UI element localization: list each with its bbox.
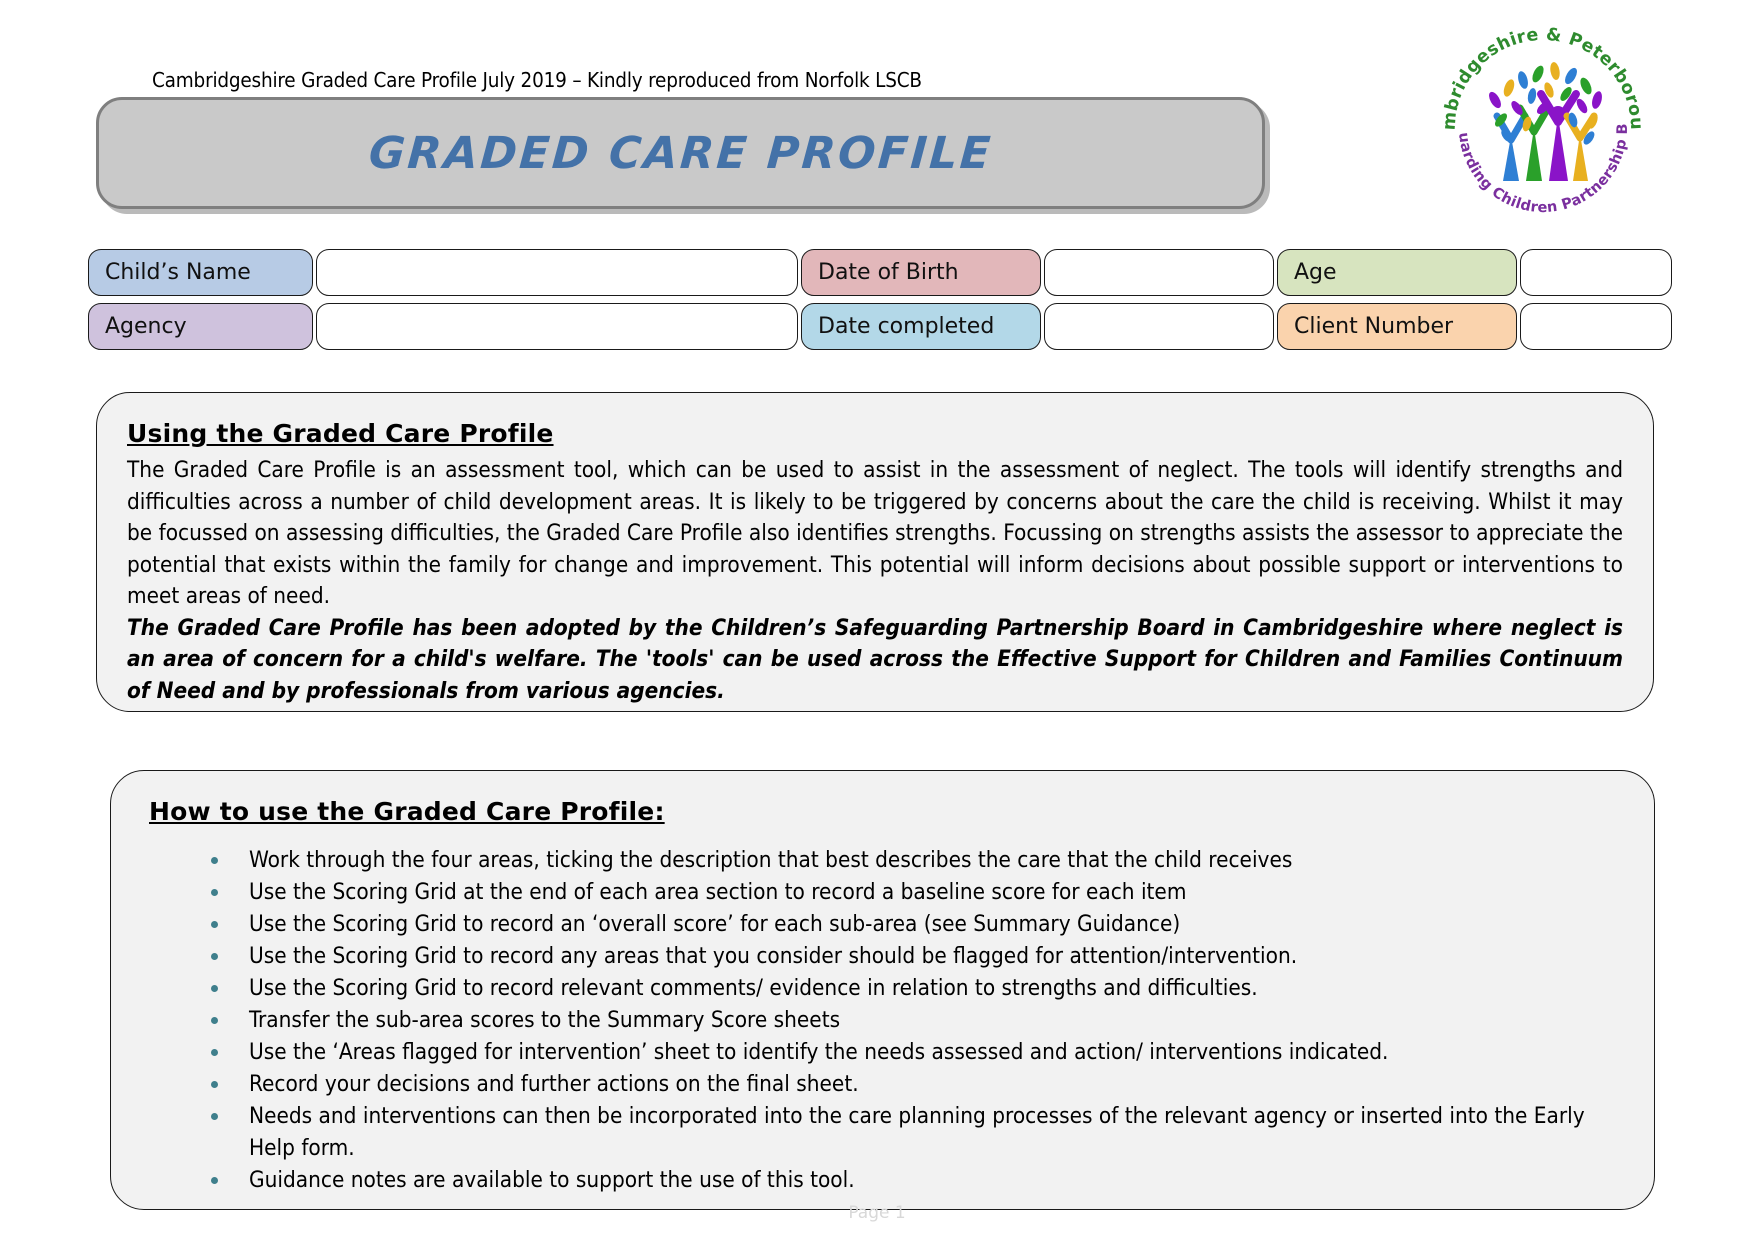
client-details-form: Child’s Name Date of Birth Age Agency Da… [88,249,1656,357]
page-title: GRADED CARE PROFILE [367,128,994,179]
document-header-line: Cambridgeshire Graded Care Profile July … [152,68,922,92]
how-to-use-bullet-item: Use the Scoring Grid to record an ‘overa… [203,908,1614,940]
how-to-use-bullet-text: Use the ‘Areas flagged for intervention’… [249,1039,1388,1065]
how-to-use-bullet-text: Work through the four areas, ticking the… [249,847,1292,873]
how-to-use-bullet-text: Use the Scoring Grid at the end of each … [249,879,1186,905]
form-row-1: Child’s Name Date of Birth Age [88,249,1656,296]
how-to-use-bullet-text: Record your decisions and further action… [249,1071,859,1097]
how-to-use-bullet-text: Guidance notes are available to support … [249,1167,855,1193]
how-to-use-bullet-item: Transfer the sub-area scores to the Summ… [203,1004,1614,1036]
form-row-2: Agency Date completed Client Number [88,303,1656,350]
childs-name-label: Child’s Name [88,249,313,296]
how-to-use-bullet-list: Work through the four areas, ticking the… [141,844,1624,1196]
bullet-dot-icon [211,1049,218,1056]
bullet-dot-icon [211,921,218,928]
bullet-dot-icon [211,1081,218,1088]
using-panel-heading: Using the Graded Care Profile [127,419,1623,448]
how-to-use-bullet-text: Use the Scoring Grid to record relevant … [249,975,1258,1001]
how-to-use-bullet-text: Use the Scoring Grid to record an ‘overa… [249,911,1180,937]
agency-input[interactable] [316,303,798,350]
agency-label: Agency [88,303,313,350]
childs-name-input[interactable] [316,249,798,296]
bullet-dot-icon [211,1177,218,1184]
date-completed-input[interactable] [1044,303,1274,350]
bullet-dot-icon [211,889,218,896]
age-input[interactable] [1520,249,1672,296]
how-to-use-bullet-item: Work through the four areas, ticking the… [203,844,1614,876]
title-banner: GRADED CARE PROFILE [96,97,1265,209]
how-to-use-bullet-text: Transfer the sub-area scores to the Summ… [249,1007,840,1033]
using-panel-paragraph-1: The Graded Care Profile is an assessment… [127,455,1623,613]
how-to-use-bullet-item: Use the Scoring Grid to record relevant … [203,972,1614,1004]
how-to-use-bullet-item: Guidance notes are available to support … [203,1164,1614,1196]
how-to-use-bullet-item: Needs and interventions can then be inco… [203,1100,1614,1164]
how-to-use-panel: How to use the Graded Care Profile: Work… [110,770,1655,1210]
how-to-use-bullet-item: Use the Scoring Grid to record any areas… [203,940,1614,972]
page-footer: Page 1 [848,1203,905,1223]
date-of-birth-label: Date of Birth [801,249,1041,296]
how-panel-heading: How to use the Graded Care Profile: [149,797,1624,826]
using-panel-paragraph-2: The Graded Care Profile has been adopted… [127,613,1623,708]
document-page: Cambridgeshire Graded Care Profile July … [0,0,1754,1240]
date-of-birth-input[interactable] [1044,249,1274,296]
bullet-dot-icon [211,985,218,992]
how-to-use-bullet-item: Record your decisions and further action… [203,1068,1614,1100]
client-number-input[interactable] [1520,303,1672,350]
how-to-use-bullet-item: Use the ‘Areas flagged for intervention’… [203,1036,1614,1068]
age-label: Age [1277,249,1517,296]
bullet-dot-icon [211,1017,218,1024]
bullet-dot-icon [211,953,218,960]
how-to-use-bullet-item: Use the Scoring Grid at the end of each … [203,876,1614,908]
how-to-use-bullet-text: Needs and interventions can then be inco… [249,1103,1585,1161]
client-number-label: Client Number [1277,303,1517,350]
bullet-dot-icon [211,1113,218,1120]
bullet-dot-icon [211,857,218,864]
date-completed-label: Date completed [801,303,1041,350]
using-the-graded-care-profile-panel: Using the Graded Care Profile The Graded… [96,392,1654,712]
how-to-use-bullet-text: Use the Scoring Grid to record any areas… [249,943,1297,969]
cambridgeshire-peterborough-safeguarding-logo: Cambridgeshire & Peterborough Safeguardi… [1437,16,1649,216]
